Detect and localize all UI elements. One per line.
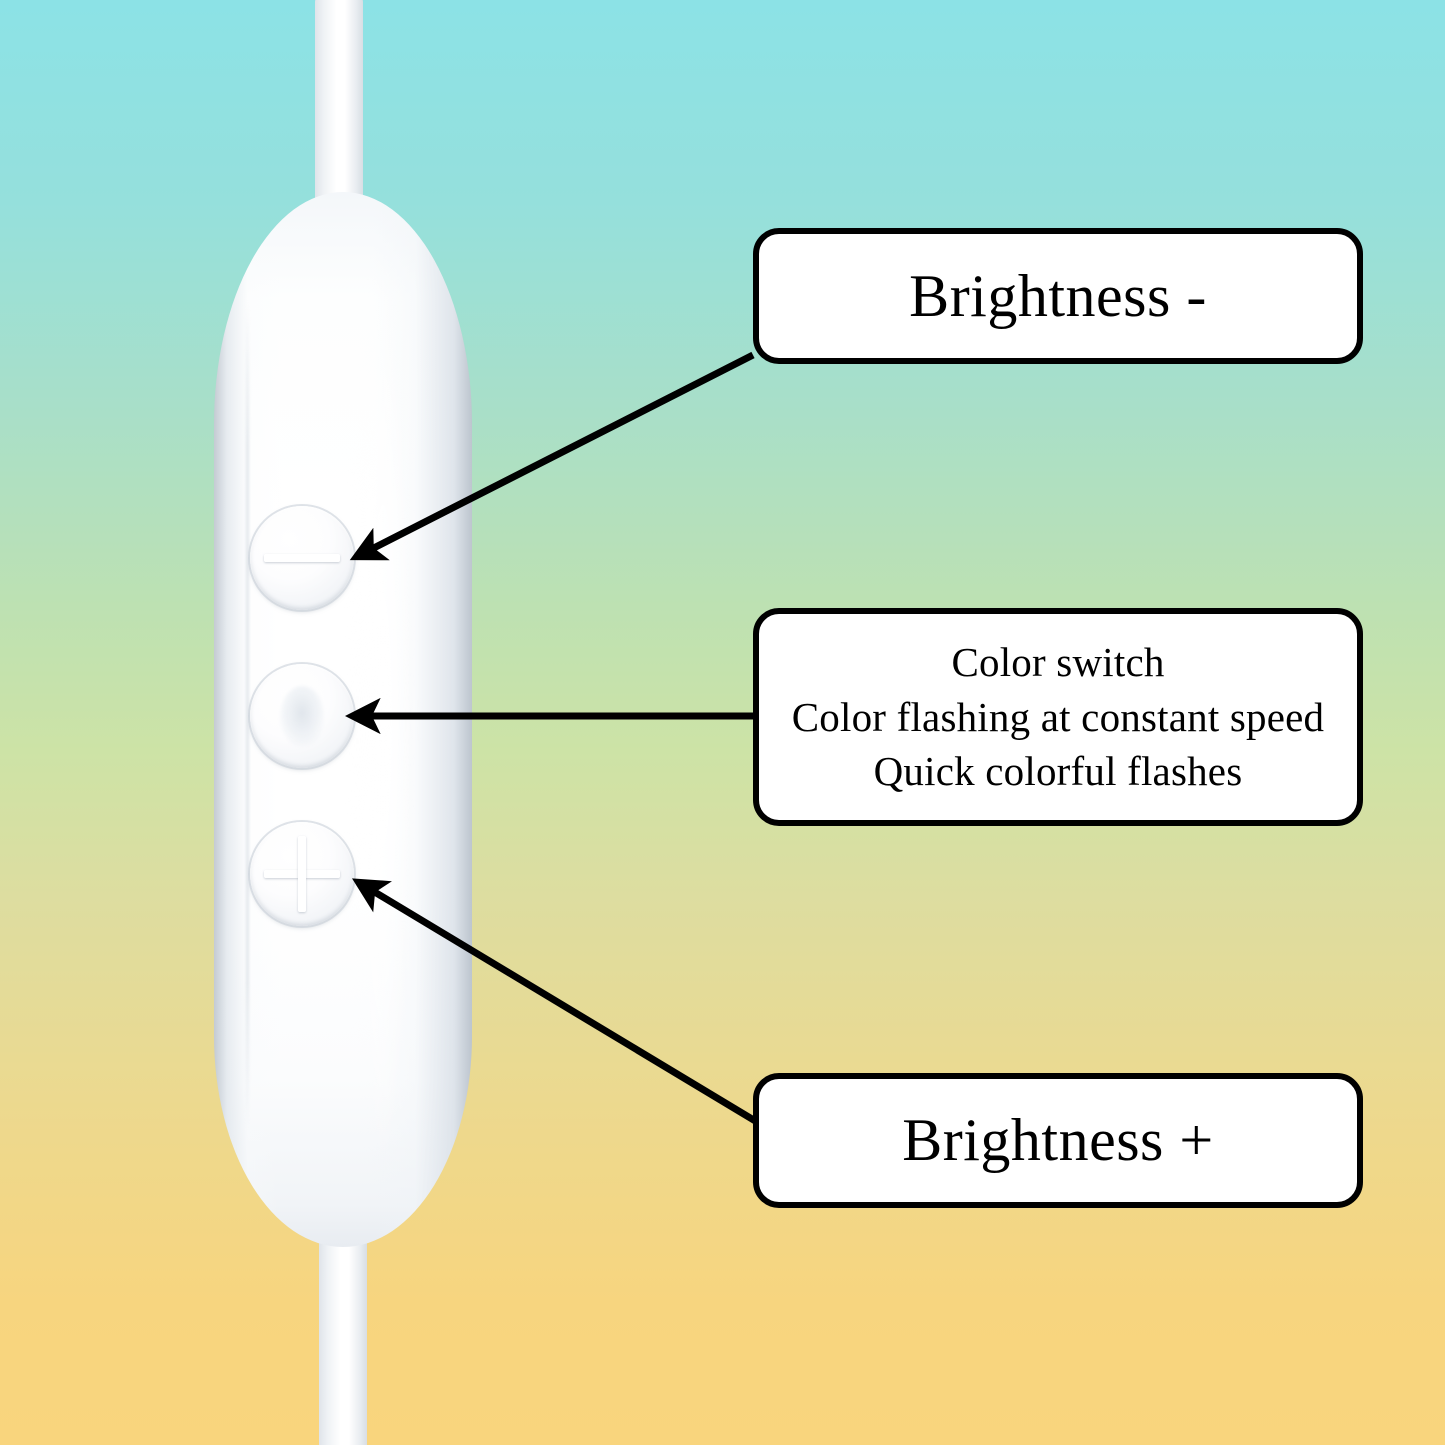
callout-line: Brightness +: [902, 1109, 1214, 1172]
callout-brightness-plus: Brightness +: [753, 1073, 1363, 1208]
color-switch-icon: [280, 686, 324, 746]
plus-icon-vertical: [298, 836, 306, 912]
color-switch-button[interactable]: [250, 664, 354, 768]
annotated-product-image: Brightness - Color switch Color flashing…: [0, 0, 1445, 1445]
cable-lower: [319, 1215, 367, 1445]
callout-brightness-minus: Brightness -: [753, 228, 1363, 364]
brightness-minus-button[interactable]: [250, 506, 354, 610]
callout-line: Quick colorful flashes: [874, 744, 1243, 799]
minus-icon: [264, 554, 340, 562]
brightness-plus-button[interactable]: [250, 822, 354, 926]
callout-line: Color switch: [951, 635, 1164, 690]
callout-color-switch: Color switch Color flashing at constant …: [753, 608, 1363, 826]
controller-highlight: [352, 250, 414, 1190]
callout-line: Brightness -: [909, 265, 1207, 328]
callout-line: Color flashing at constant speed: [792, 690, 1324, 745]
controller-seam-line: [246, 300, 249, 1130]
